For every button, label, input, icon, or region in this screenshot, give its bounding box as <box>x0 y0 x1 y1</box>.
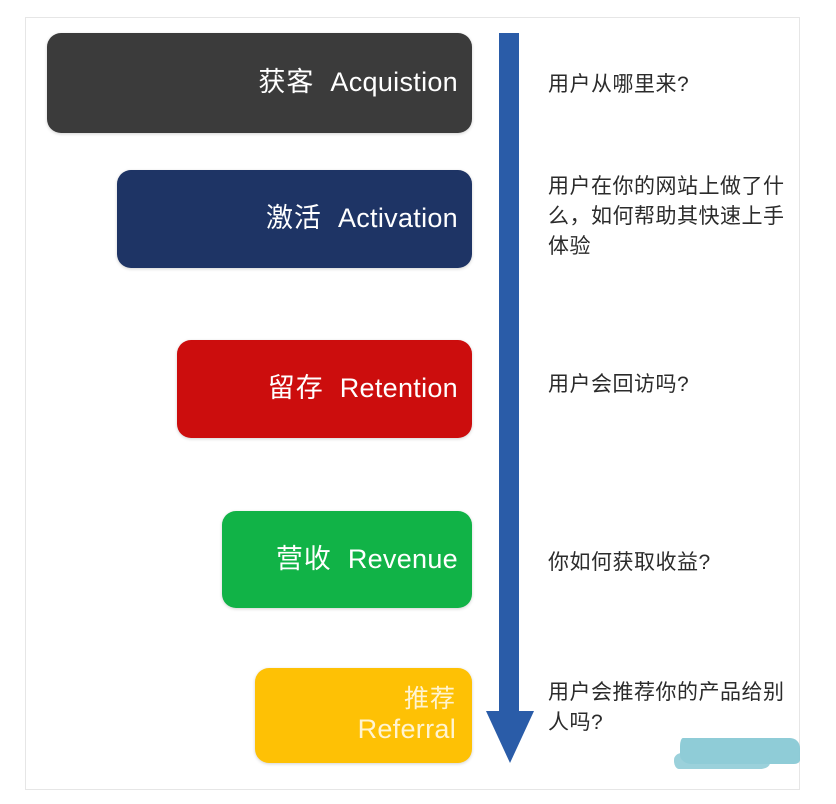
stage-label-zh: 留存 <box>268 373 324 403</box>
stage-label-retention: 留存Retention <box>268 373 472 405</box>
stage-bar-revenue[interactable]: 营收Revenue <box>222 511 472 608</box>
stage-label-activation: 激活Activation <box>266 203 472 235</box>
downward-flow-arrow-icon <box>486 33 534 763</box>
diagram-canvas: 获客Acquistion 激活Activation 留存Retention 营收… <box>0 0 836 804</box>
stage-bar-referral[interactable]: 推荐 Referral <box>255 668 472 763</box>
stage-label-referral: 推荐 Referral <box>358 685 472 746</box>
stage-bar-acquisition[interactable]: 获客Acquistion <box>47 33 472 133</box>
stage-label-en: Acquistion <box>330 67 458 97</box>
stage-label-en: Revenue <box>348 544 458 574</box>
stage-bar-activation[interactable]: 激活Activation <box>117 170 472 268</box>
stage-label-en: Referral <box>358 714 456 746</box>
arrow-head <box>486 711 534 763</box>
annotation-activation: 用户在你的网站上做了什么，如何帮助其快速上手体验 <box>548 172 800 261</box>
stage-bar-retention[interactable]: 留存Retention <box>177 340 472 438</box>
stage-label-zh: 推荐 <box>404 685 456 715</box>
annotation-acquisition: 用户从哪里来? <box>548 70 798 100</box>
stage-label-zh: 营收 <box>276 544 332 574</box>
arrow-shaft <box>499 33 519 715</box>
annotation-retention: 用户会回访吗? <box>548 370 798 400</box>
annotation-referral: 用户会推荐你的产品给别人吗? <box>548 678 800 738</box>
stage-label-acquisition: 获客Acquistion <box>258 67 472 99</box>
teal-marker-smudge <box>680 738 800 764</box>
annotation-revenue: 你如何获取收益? <box>548 548 798 578</box>
stage-label-zh: 激活 <box>266 203 322 233</box>
stage-label-en: Retention <box>340 373 458 403</box>
stage-label-en: Activation <box>338 203 458 233</box>
stage-label-zh: 获客 <box>258 67 314 97</box>
stage-label-revenue: 营收Revenue <box>276 544 472 576</box>
